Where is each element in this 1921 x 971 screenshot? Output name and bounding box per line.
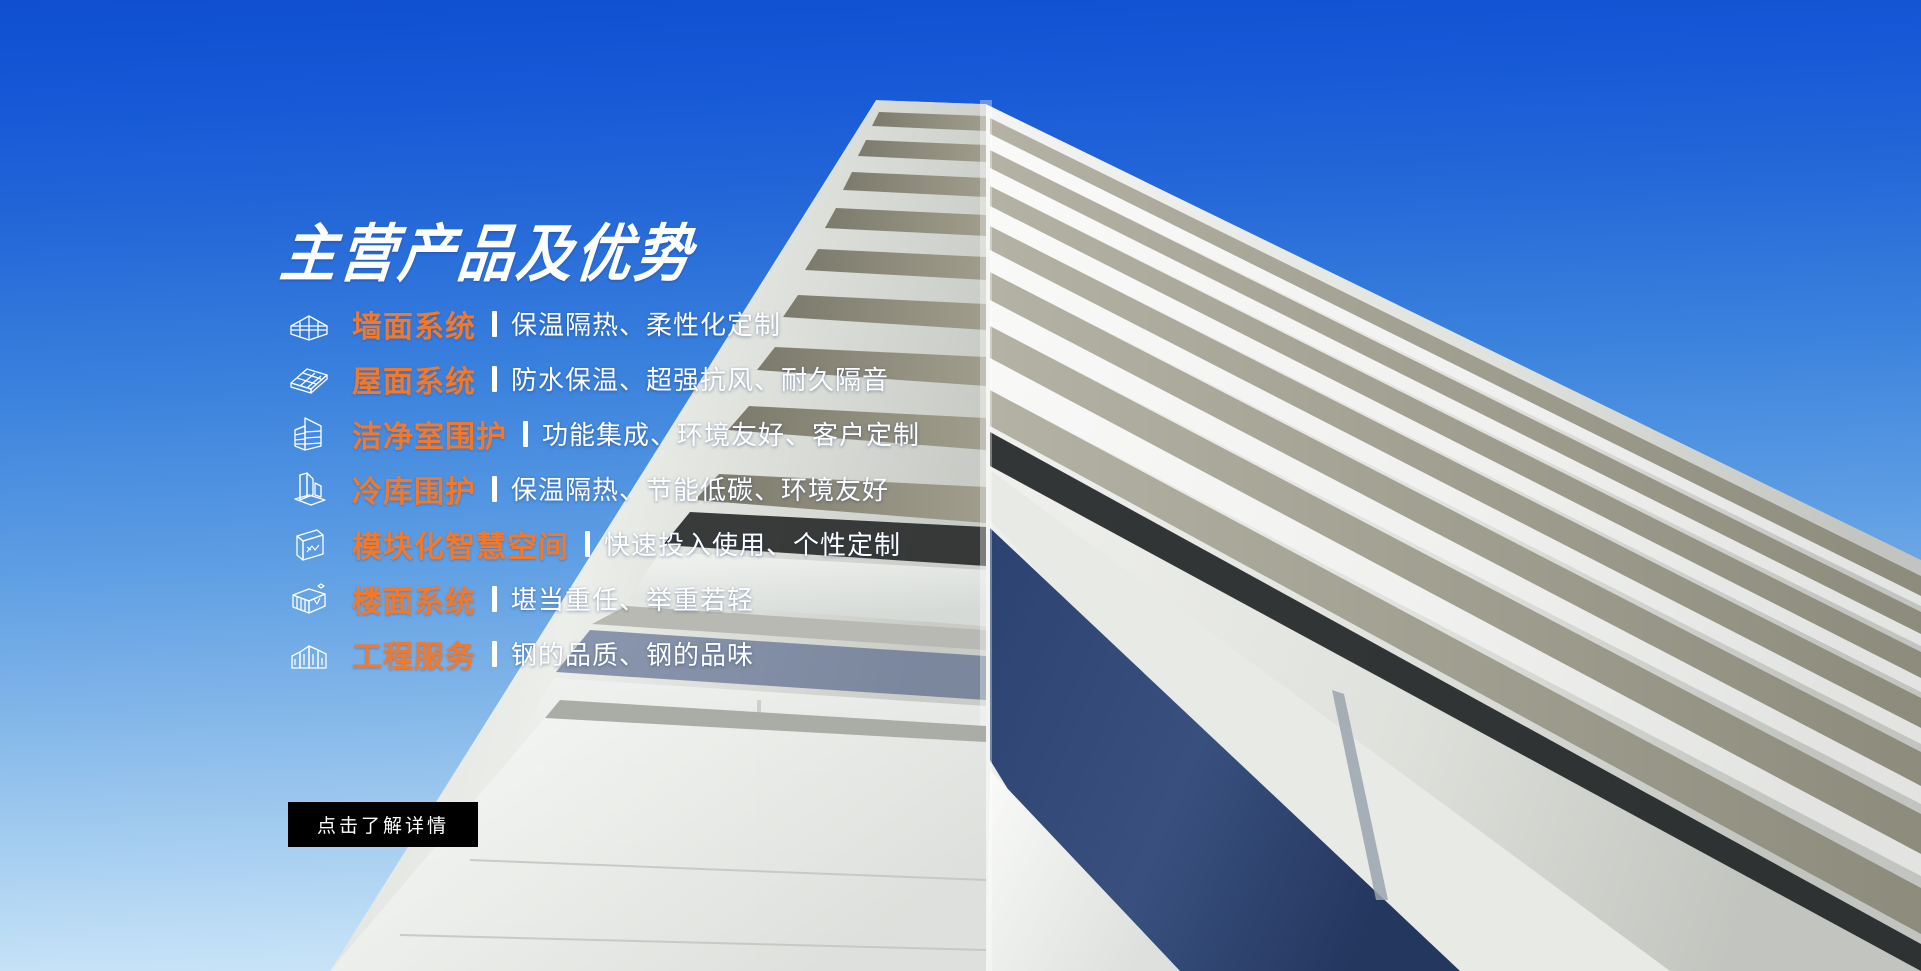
- product-row-roof[interactable]: 屋面系统 防水保温、超强抗风、耐久隔音: [286, 351, 920, 406]
- product-desc: 保温隔热、柔性化定制: [511, 305, 781, 342]
- modular-space-icon: [286, 521, 332, 567]
- cold-storage-icon: [286, 466, 332, 512]
- product-name: 墙面系统: [352, 302, 476, 346]
- engineering-icon: [286, 631, 332, 677]
- product-name: 冷库围护: [352, 467, 476, 511]
- separator: [523, 421, 528, 447]
- separator: [492, 476, 497, 502]
- learn-more-button[interactable]: 点击了解详情: [288, 802, 478, 847]
- product-row-wall[interactable]: 墙面系统 保温隔热、柔性化定制: [286, 296, 920, 351]
- product-row-floor[interactable]: 楼面系统 堪当重任、举重若轻: [286, 571, 920, 626]
- floor-deck-icon: [286, 576, 332, 622]
- separator: [492, 311, 497, 337]
- product-desc: 保温隔热、节能低碳、环境友好: [511, 470, 889, 507]
- roof-panel-icon: [286, 356, 332, 402]
- page-title: 主营产品及优势: [276, 204, 699, 295]
- product-desc: 快速投入使用、个性定制: [604, 525, 901, 562]
- separator: [492, 641, 497, 667]
- product-name: 屋面系统: [352, 357, 476, 401]
- product-desc: 功能集成、环境友好、客户定制: [542, 415, 920, 452]
- product-row-modular-space[interactable]: 模块化智慧空间 快速投入使用、个性定制: [286, 516, 920, 571]
- product-row-engineering[interactable]: 工程服务 钢的品质、钢的品味: [286, 626, 920, 681]
- cleanroom-icon: [286, 411, 332, 457]
- separator: [585, 531, 590, 557]
- product-name: 工程服务: [352, 632, 476, 676]
- product-row-cold-storage[interactable]: 冷库围护 保温隔热、节能低碳、环境友好: [286, 461, 920, 516]
- wall-panel-icon: [286, 301, 332, 347]
- product-list: 墙面系统 保温隔热、柔性化定制 屋面系统: [286, 296, 920, 681]
- hero-banner: 主营产品及优势 墙面系统 保温隔热、柔性化定制: [0, 0, 1921, 971]
- product-row-cleanroom[interactable]: 洁净室围护 功能集成、环境友好、客户定制: [286, 406, 920, 461]
- product-name: 楼面系统: [352, 577, 476, 621]
- product-name: 洁净室围护: [352, 412, 507, 456]
- separator: [492, 366, 497, 392]
- product-name: 模块化智慧空间: [352, 522, 569, 566]
- separator: [492, 586, 497, 612]
- product-desc: 防水保温、超强抗风、耐久隔音: [511, 360, 889, 397]
- product-desc: 钢的品质、钢的品味: [511, 635, 754, 672]
- product-desc: 堪当重任、举重若轻: [511, 580, 754, 617]
